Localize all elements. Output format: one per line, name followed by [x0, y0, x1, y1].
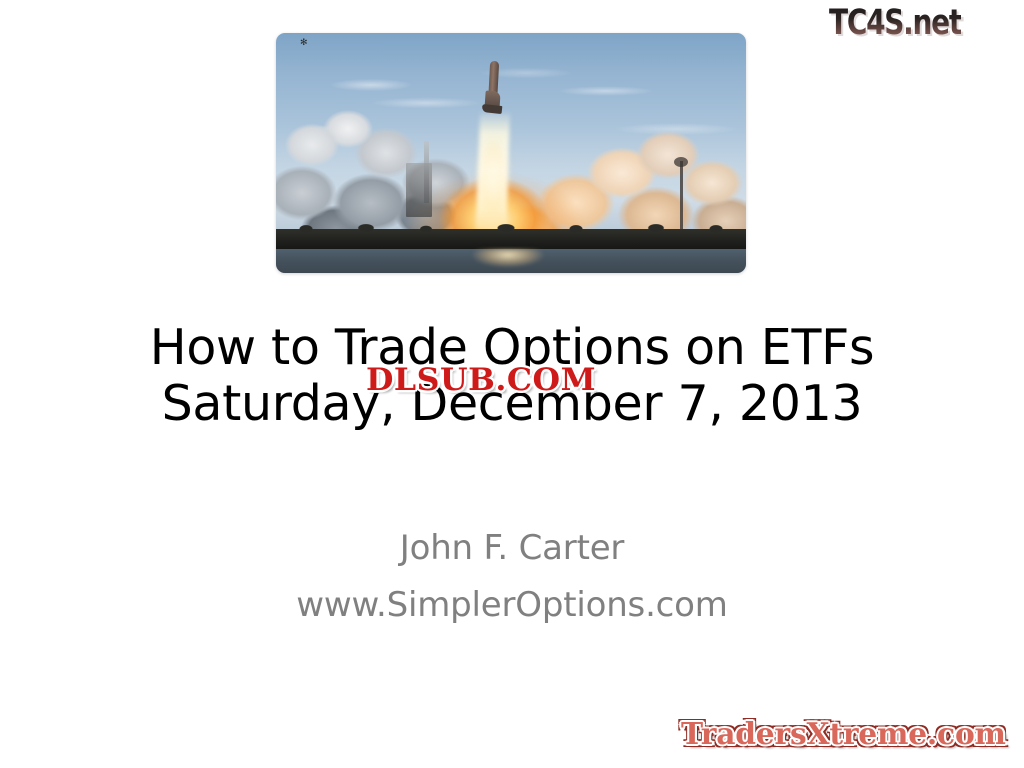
photo-shuttle-vehicle — [484, 61, 502, 119]
photo-mast-top — [674, 157, 688, 167]
presenter-website: www.SimplerOptions.com — [0, 577, 1024, 634]
tradersxtreme-watermark: TradersXtreme.com — [681, 717, 1006, 753]
presentation-slide: ✻ How to Trade Options on ETFs Saturday,… — [0, 0, 1024, 768]
photo-treeline — [276, 229, 746, 251]
dlsub-watermark: DLSUB.COM — [366, 362, 596, 398]
presenter-name: John F. Carter — [0, 520, 1024, 577]
tc4s-watermark: TC4S.net — [829, 4, 961, 42]
space-shuttle-launch-photo: ✻ — [276, 33, 746, 273]
slide-subtitle: John F. Carter www.SimplerOptions.com — [0, 520, 1024, 634]
photo-water-reflection — [460, 249, 556, 273]
bird-icon: ✻ — [300, 39, 310, 45]
photo-shuttle-wing — [482, 104, 503, 114]
photo-launch-gantry — [406, 163, 432, 217]
